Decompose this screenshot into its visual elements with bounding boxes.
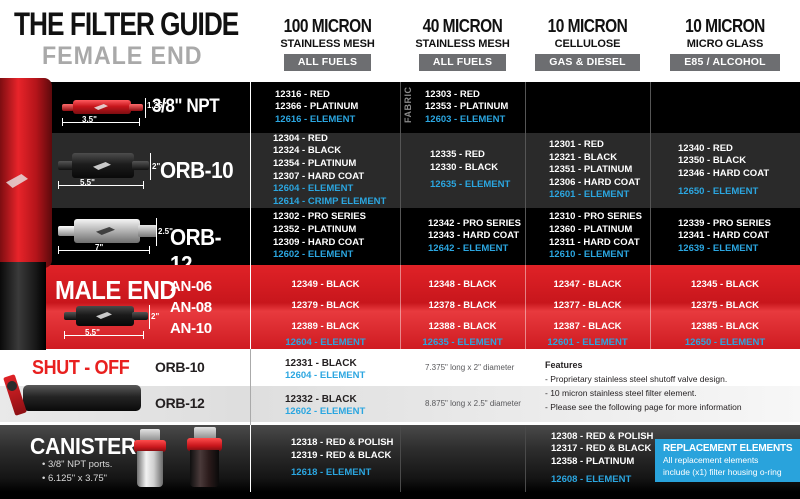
canister-bullet: • 3/8" NPT ports. <box>42 459 112 470</box>
badge-line-2: include (x1) filter housing o-ring <box>663 467 793 478</box>
male-part: 12388 - BLACK <box>400 321 525 332</box>
cell-r2-c0: 12302 - PRO SERIES 12352 - PLATINUM 1230… <box>251 208 400 265</box>
an-size-06: AN-06 <box>170 278 212 295</box>
part-number: 12351 - PLATINUM <box>549 164 632 177</box>
row-label-orb10: ORB-10 <box>160 157 233 184</box>
filter-guide-page: THE FILTER GUIDE FEMALE END 100 MICRON S… <box>0 0 800 499</box>
dimension-length: 5.5" <box>80 178 95 187</box>
dimension-length: 5.5" <box>85 328 100 337</box>
shutoff-element: 12604 - ELEMENT <box>285 370 365 383</box>
part-number: 12343 - HARD COAT <box>428 230 519 243</box>
male-part: 12375 - BLACK <box>650 300 800 311</box>
part-number: 12352 - PLATINUM <box>273 224 356 237</box>
section-divider <box>250 349 251 425</box>
dimension-diameter: 2" <box>151 312 159 321</box>
part-number-element: 12639 - ELEMENT <box>678 243 758 256</box>
male-end-section: MALE END AN-06 AN-08 AN-10 5.5" 2" 12349… <box>0 265 800 349</box>
male-part: 12347 - BLACK <box>525 279 650 290</box>
male-end-title: MALE END <box>55 275 176 306</box>
canister-image-black <box>182 427 230 489</box>
part-number: 12324 - BLACK <box>273 145 341 158</box>
shutoff-orb-12: ORB-12 <box>155 395 205 411</box>
product-photo-male-fitting <box>0 262 46 350</box>
part-number: 12302 - PRO SERIES <box>273 211 366 224</box>
shutoff-part: 12331 - BLACK <box>285 358 357 371</box>
part-number: 12317 - RED & BLACK <box>551 443 651 456</box>
part-number: 12309 - HARD COAT <box>273 237 364 250</box>
column-material: CELLULOSE <box>525 38 650 50</box>
cell-r1-c3: 12340 - RED 12350 - BLACK 12346 - HARD C… <box>650 133 800 208</box>
column-micron: 100 MICRON <box>265 16 390 37</box>
part-number: 12316 - RED <box>275 89 330 102</box>
bottom-strip <box>0 492 800 499</box>
part-number-element: 12604 - ELEMENT <box>273 183 353 196</box>
page-subtitle: FEMALE END <box>42 42 202 71</box>
cell-r0-c0: 12316 - RED 12366 - PLATINUM 12616 - ELE… <box>251 82 400 133</box>
column-material: MICRO GLASS <box>650 38 800 50</box>
filter-thumbnail-male <box>64 305 149 327</box>
dimension-length: 7" <box>95 243 103 252</box>
part-number-element: 12602 - ELEMENT <box>273 249 353 262</box>
features-item: - 10 micron stainless steel filter eleme… <box>545 388 697 398</box>
part-number-element: 12603 - ELEMENT <box>425 114 505 127</box>
filter-thumbnail-orb10 <box>58 153 150 179</box>
features-title: Features <box>545 360 583 370</box>
part-number: 12335 - RED <box>430 149 485 162</box>
male-part: 12348 - BLACK <box>400 279 525 290</box>
part-number: 12350 - BLACK <box>678 155 746 168</box>
badge-title: REPLACEMENT ELEMENTS <box>663 443 793 454</box>
data-area: 12304 - RED 12324 - BLACK 12354 - PLATIN… <box>251 133 800 208</box>
female-row-orb12: 7" 2.5" ORB-12 12302 - PRO SERIES 12352 … <box>0 208 800 265</box>
column-header-3: 10 MICRON MICRO GLASS E85 / ALCOHOL <box>650 16 800 71</box>
shutoff-valve-illustration <box>5 371 155 423</box>
part-number: 12342 - PRO SERIES <box>428 218 521 231</box>
part-number-element: 12601 - ELEMENT <box>549 189 629 202</box>
part-number: 12354 - PLATINUM <box>273 158 356 171</box>
column-header-1: 40 MICRON STAINLESS MESH ALL FUELS <box>400 16 525 71</box>
part-number: 12341 - HARD COAT <box>678 230 769 243</box>
badge-line-1: All replacement elements <box>663 455 793 466</box>
an-size-08: AN-08 <box>170 299 212 316</box>
column-header-0: 100 MICRON STAINLESS MESH ALL FUELS <box>255 16 400 71</box>
part-number-element: 12616 - ELEMENT <box>275 114 355 127</box>
shutoff-element: 12602 - ELEMENT <box>285 406 365 419</box>
part-number: 12301 - RED <box>549 139 604 152</box>
part-number: 12311 - HARD COAT <box>549 237 640 250</box>
cell-r0-c3 <box>650 82 800 133</box>
data-area: 12302 - PRO SERIES 12352 - PLATINUM 1230… <box>251 208 800 265</box>
cell-r2-c2: 12310 - PRO SERIES 12360 - PLATINUM 1231… <box>525 208 650 265</box>
filter-thumbnail-orb12 <box>58 218 158 244</box>
male-part: 12389 - BLACK <box>251 321 400 332</box>
column-material: STAINLESS MESH <box>400 38 525 50</box>
dimension-length: 3.5" <box>82 115 97 124</box>
male-part: 12345 - BLACK <box>650 279 800 290</box>
part-number-element: 12608 - ELEMENT <box>551 474 631 487</box>
part-number-element: 12635 - ELEMENT <box>430 179 510 192</box>
canister-section: CANISTER • 3/8" NPT ports. • 6.125" x 3.… <box>0 425 800 492</box>
product-photo-red-canister <box>0 78 52 268</box>
part-number-element: 12614 - CRIMP ELEMENT <box>273 196 386 209</box>
male-part: 12349 - BLACK <box>251 279 400 290</box>
cell-r1-c1: 12335 - RED 12330 - BLACK 12635 - ELEMEN… <box>400 133 525 208</box>
dimension-diameter: 2" <box>152 162 160 171</box>
column-fuel-badge: GAS & DIESEL <box>535 54 640 71</box>
canister-image-polish <box>128 429 174 489</box>
part-number: 12306 - HARD COAT <box>549 177 640 190</box>
shutoff-orb-10: ORB-10 <box>155 359 205 375</box>
part-number: 12307 - HARD COAT <box>273 171 364 184</box>
column-micron: 10 MICRON <box>661 16 790 37</box>
canister-title: CANISTER <box>30 433 136 460</box>
male-part: 12387 - BLACK <box>525 321 650 332</box>
canister-bullet: • 6.125" x 3.75" <box>42 473 107 484</box>
part-number: 12318 - RED & POLISH <box>291 437 393 450</box>
part-number: 12308 - RED & POLISH <box>551 431 653 444</box>
row-label-npt: 3/8" NPT <box>152 96 219 118</box>
cell-r1-c0: 12304 - RED 12324 - BLACK 12354 - PLATIN… <box>251 133 400 208</box>
canister-cell-col1: 12318 - RED & POLISH 12319 - RED & BLACK… <box>285 425 445 492</box>
male-element: 12604 - ELEMENT <box>251 337 400 348</box>
part-number: 12353 - PLATINUM <box>425 101 508 114</box>
part-number: 12340 - RED <box>678 143 733 156</box>
male-element: 12650 - ELEMENT <box>650 337 800 348</box>
part-number: 12330 - BLACK <box>430 162 498 175</box>
part-number: 12319 - RED & BLACK <box>291 450 391 463</box>
male-part: 12378 - BLACK <box>400 300 525 311</box>
part-number: 12358 - PLATINUM <box>551 456 634 469</box>
part-number: 12304 - RED <box>273 133 328 146</box>
part-number: 12346 - HARD COAT <box>678 168 769 181</box>
part-number: 12310 - PRO SERIES <box>549 211 642 224</box>
cell-r1-c2: 12301 - RED 12321 - BLACK 12351 - PLATIN… <box>525 133 650 208</box>
part-number-element: 12642 - ELEMENT <box>428 243 508 256</box>
male-element: 12601 - ELEMENT <box>525 337 650 348</box>
part-number: 12303 - RED <box>425 89 480 102</box>
cell-r0-c1: 12303 - RED 12353 - PLATINUM 12603 - ELE… <box>400 82 525 133</box>
part-number-element: 12650 - ELEMENT <box>678 186 758 199</box>
page-title: THE FILTER GUIDE <box>14 6 238 43</box>
cell-r2-c3: 12339 - PRO SERIES 12341 - HARD COAT 126… <box>650 208 800 265</box>
shutoff-dimensions: 7.375" long x 2" diameter <box>425 363 514 372</box>
cell-r2-c1: 12342 - PRO SERIES 12343 - HARD COAT 126… <box>400 208 525 265</box>
shutoff-section: SHUT - OFF ORB-10 ORB-12 12331 - BLACK 1… <box>0 349 800 425</box>
replacement-elements-badge: REPLACEMENT ELEMENTS All replacement ele… <box>655 439 800 482</box>
male-part: 12377 - BLACK <box>525 300 650 311</box>
cell-r0-c2 <box>525 82 650 133</box>
male-part: 12379 - BLACK <box>251 300 400 311</box>
part-number: 12321 - BLACK <box>549 152 617 165</box>
data-area: 12316 - RED 12366 - PLATINUM 12616 - ELE… <box>251 82 800 133</box>
shutoff-dimensions: 8.875" long x 2.5" diameter <box>425 399 521 408</box>
column-micron: 40 MICRON <box>409 16 517 37</box>
part-number: 12339 - PRO SERIES <box>678 218 771 231</box>
column-header-2: 10 MICRON CELLULOSE GAS & DIESEL <box>525 16 650 71</box>
part-number: 12366 - PLATINUM <box>275 101 358 114</box>
section-divider <box>250 425 251 492</box>
column-fuel-badge: ALL FUELS <box>284 54 371 71</box>
column-material: STAINLESS MESH <box>255 38 400 50</box>
shutoff-part: 12332 - BLACK <box>285 394 357 407</box>
part-number-element: 12610 - ELEMENT <box>549 249 629 262</box>
part-number: 12360 - PLATINUM <box>549 224 632 237</box>
column-fuel-badge: E85 / ALCOHOL <box>670 54 780 71</box>
features-item: - Proprietary stainless steel shutoff va… <box>545 374 727 384</box>
part-number-element: 12618 - ELEMENT <box>291 467 371 480</box>
female-row-orb10: 5.5" 2" ORB-10 12304 - RED 12324 - BLACK… <box>0 133 800 208</box>
features-item: - Please see the following page for more… <box>545 402 742 412</box>
column-fuel-badge: ALL FUELS <box>419 54 506 71</box>
male-part: 12385 - BLACK <box>650 321 800 332</box>
an-size-10: AN-10 <box>170 320 212 337</box>
col-divider <box>525 425 526 492</box>
header: THE FILTER GUIDE FEMALE END 100 MICRON S… <box>0 0 800 82</box>
filter-thumbnail-npt <box>62 98 144 116</box>
column-micron: 10 MICRON <box>534 16 642 37</box>
female-row-npt: 3.5" 1.25" 3/8" NPT 12316 - RED 12366 - … <box>0 82 800 133</box>
male-element: 12635 - ELEMENT <box>400 337 525 348</box>
